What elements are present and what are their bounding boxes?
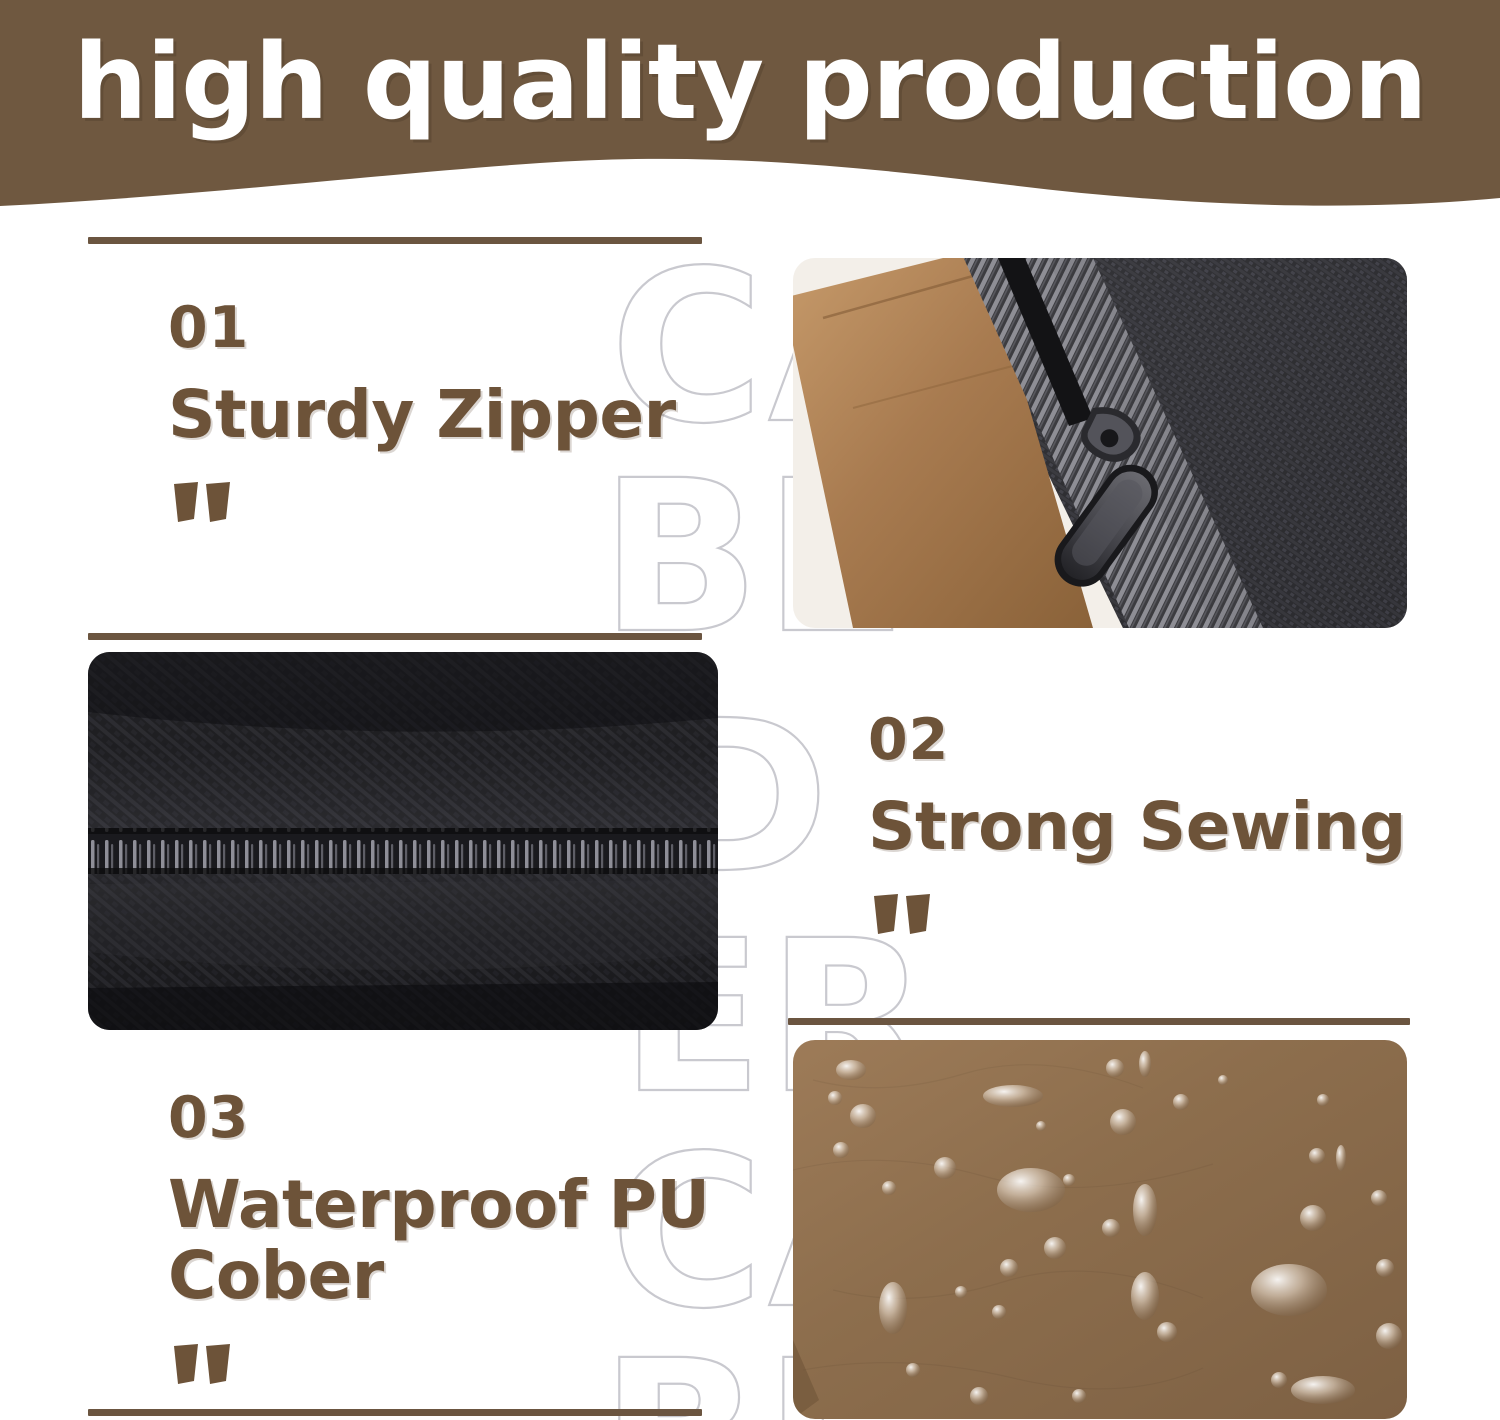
feature-block-02: 02 Strong Sewing bbox=[868, 712, 1468, 942]
divider-bottom-3 bbox=[88, 1409, 702, 1416]
feature-title-01: Sturdy Zipper bbox=[168, 379, 728, 450]
feature-block-01: 01 Sturdy Zipper bbox=[168, 300, 728, 530]
zipper-closeup-photo bbox=[793, 258, 1407, 628]
divider-bottom-1 bbox=[88, 633, 702, 640]
feature-number-01: 01 bbox=[168, 300, 728, 357]
feature-title-02: Strong Sewing bbox=[868, 791, 1468, 862]
quote-mark-icon-02 bbox=[868, 886, 1468, 942]
quote-mark-icon-03 bbox=[168, 1336, 768, 1392]
divider-top-1 bbox=[88, 237, 702, 244]
quote-mark-icon-01 bbox=[168, 474, 728, 530]
page-header: high quality production bbox=[0, 0, 1500, 215]
feature-block-03: 03 Waterproof PU Cober bbox=[168, 1090, 768, 1392]
feature-number-02: 02 bbox=[868, 712, 1468, 769]
feature-title-03: Waterproof PU Cober bbox=[168, 1169, 768, 1312]
divider-bottom-2 bbox=[788, 1018, 1410, 1025]
sewing-closeup-photo bbox=[88, 652, 718, 1030]
page-title: high quality production bbox=[0, 28, 1500, 137]
waterproof-leather-photo bbox=[793, 1040, 1407, 1419]
feature-number-03: 03 bbox=[168, 1090, 768, 1147]
